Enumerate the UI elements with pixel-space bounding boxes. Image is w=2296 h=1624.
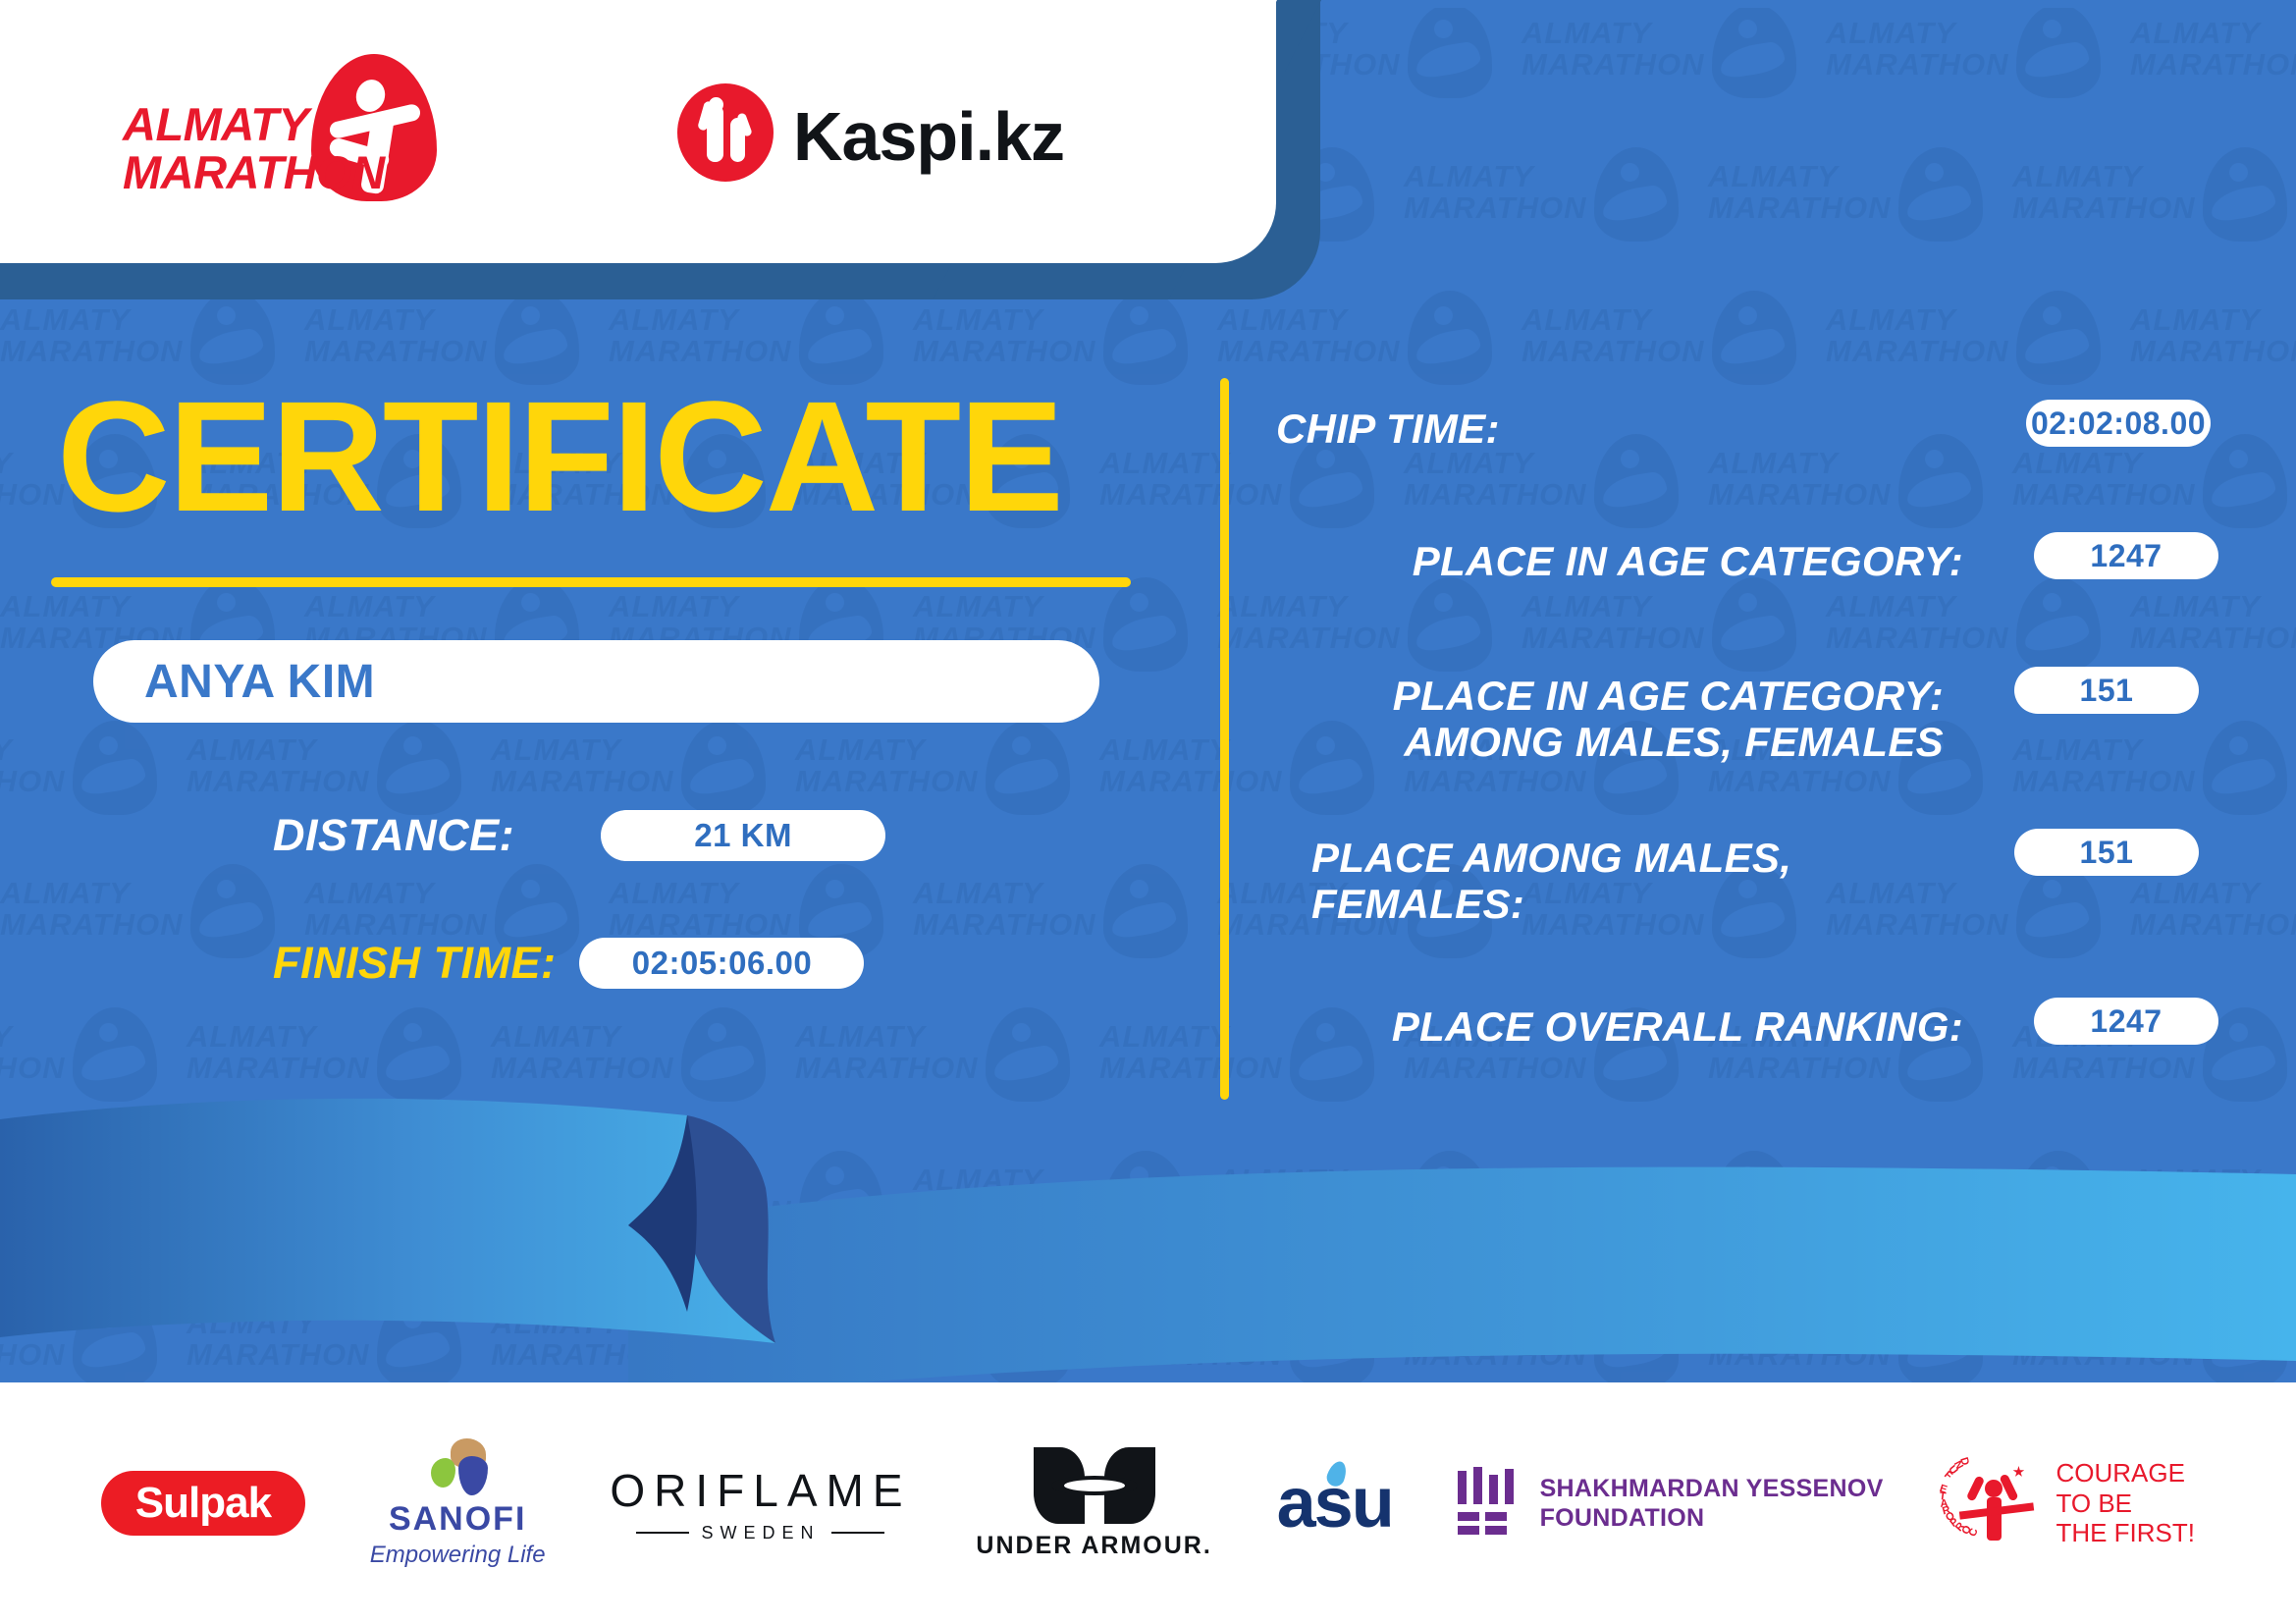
watermark-text: ALMATYMARATHON: [304, 878, 488, 940]
watermark-runner-icon: [1408, 291, 1492, 385]
yessenov-line2: FOUNDATION: [1540, 1503, 1884, 1533]
watermark-text: ALMATYMARATHON: [2130, 304, 2296, 366]
watermark-tile: ALMATYMARATHON: [2012, 430, 2296, 546]
stat-value: 1247: [2034, 532, 2218, 579]
watermark-runner-icon: [681, 721, 766, 815]
watermark-runner-icon: [1103, 864, 1188, 958]
watermark-text: ALMATYMARATHON: [0, 878, 184, 940]
sanofi-wordmark: SANOFI: [389, 1500, 526, 1539]
yessenov-line1: SHAKHMARDAN YESSENOV: [1540, 1474, 1884, 1503]
watermark-runner-icon: [1408, 577, 1492, 672]
distance-value: 21 KM: [601, 810, 885, 861]
watermark-tile: ALMATYMARATHON: [0, 717, 177, 833]
watermark-runner-icon: [377, 721, 461, 815]
watermark-text: ALMATYMARATHON: [609, 304, 792, 366]
oriflame-wordmark: ORIFLAME: [610, 1464, 911, 1517]
kaspi-people-icon: [677, 83, 774, 182]
almaty-marathon-wordmark: ALMATY MARATHON: [123, 101, 368, 197]
participant-name-field: ANYA KIM: [93, 640, 1099, 723]
watermark-text: ALMATYMARATHON: [0, 734, 66, 796]
oriflame-sub: SWEDEN: [636, 1523, 884, 1543]
sponsor-bar: Sulpak SANOFI Empowering Life ORIFLAME S…: [0, 1382, 2296, 1624]
header-logos: ALMATY MARATHON Kaspi.kz: [0, 0, 1198, 263]
watermark-text: ALMATYMARATHON: [2130, 591, 2296, 653]
watermark-text: ALMATYMARATHON: [1826, 591, 2009, 653]
kaspi-wordmark: Kaspi.kz: [793, 97, 1064, 176]
watermark-text: ALMATYMARATHON: [1217, 591, 1401, 653]
watermark-text: ALMATYMARATHON: [491, 734, 674, 796]
watermark-text: ALMATYMARATHON: [2012, 448, 2196, 510]
watermark-tile: ALMATYMARATHON: [913, 860, 1207, 976]
watermark-tile: ALMATYMARATHON: [0, 860, 294, 976]
stat-label: CHIP TIME:: [1276, 406, 1953, 452]
distance-label: DISTANCE:: [273, 810, 514, 861]
watermark-text: ALMATYMARATHON: [1099, 1021, 1283, 1083]
watermark-tile: ALMATYMARATHON: [2130, 860, 2296, 976]
watermark-runner-icon: [2016, 577, 2101, 672]
stat-label: PLACE OVERALL RANKING:: [1276, 1003, 1963, 1050]
oriflame-country: SWEDEN: [701, 1523, 820, 1543]
marathon-logo-line1: ALMATY: [123, 101, 368, 149]
courage-runner-icon: CORPORATE FUND: [1948, 1456, 2042, 1550]
divider-line: [831, 1532, 884, 1534]
watermark-text: ALMATYMARATHON: [187, 1021, 370, 1083]
stat-value: 1247: [2034, 998, 2218, 1045]
yessenov-bars-icon: [1458, 1467, 1519, 1540]
courage-line3: THE FIRST!: [2056, 1518, 2195, 1548]
watermark-runner-icon: [73, 721, 157, 815]
watermark-text: ALMATYMARATHON: [1522, 591, 1705, 653]
courage-line1: COURAGE: [2056, 1458, 2195, 1489]
finish-time-value: 02:05:06.00: [579, 938, 864, 989]
watermark-text: ALMATYMARATHON: [0, 448, 66, 510]
watermark-text: ALMATYMARATHON: [1708, 448, 1892, 510]
watermark-runner-icon: [2016, 864, 2101, 958]
stat-label: PLACE AMONG MALES, FEMALES:: [1311, 835, 1900, 927]
watermark-text: ALMATYMARATHON: [0, 1021, 66, 1083]
watermark-text: ALMATYMARATHON: [913, 304, 1096, 366]
participant-name-value: ANYA KIM: [144, 655, 375, 709]
watermark-text: ALMATYMARATHON: [187, 734, 370, 796]
ribbon-shape: [0, 1080, 2296, 1404]
watermark-runner-icon: [2203, 434, 2287, 528]
under-armour-wordmark: UNDER ARMOUR.: [976, 1532, 1211, 1560]
watermark-tile: ALMATYMARATHON: [2012, 717, 2296, 833]
watermark-text: ALMATYMARATHON: [1099, 448, 1283, 510]
watermark-text: ALMATYMARATHON: [304, 304, 488, 366]
divider-line: [636, 1532, 689, 1534]
sponsor-logo-sulpak: Sulpak: [101, 1471, 305, 1536]
sponsor-logo-courage-fund: CORPORATE FUND COURAGE TO BE THE FIRST!: [1948, 1456, 2195, 1550]
watermark-text: ALMATYMARATHON: [2130, 878, 2296, 940]
column-divider: [1220, 378, 1229, 1100]
watermark-text: ALMATYMARATHON: [1404, 448, 1587, 510]
stat-label: PLACE IN AGE CATEGORY: AMONG MALES, FEMA…: [1276, 673, 1944, 765]
under-armour-icon: [1034, 1447, 1155, 1524]
sponsor-logo-sanofi: SANOFI Empowering Life: [370, 1438, 546, 1569]
watermark-text: ALMATYMARATHON: [0, 304, 184, 366]
sponsor-logo-under-armour: UNDER ARMOUR.: [976, 1447, 1211, 1560]
watermark-runner-icon: [986, 721, 1070, 815]
watermark-runner-icon: [2203, 721, 2287, 815]
yessenov-wordmark: SHAKHMARDAN YESSENOV FOUNDATION: [1540, 1474, 1884, 1533]
watermark-text: ALMATYMARATHON: [1522, 304, 1705, 366]
sanofi-mark-icon: [425, 1438, 490, 1495]
header: ALMATY MARATHON Kaspi.kz: [0, 0, 2296, 304]
title-divider: [51, 577, 1131, 587]
page-title: CERTIFICATE: [57, 378, 1062, 535]
watermark-runner-icon: [1712, 291, 1796, 385]
watermark-text: ALMATYMARATHON: [1826, 304, 2009, 366]
watermark-runner-icon: [1103, 577, 1188, 672]
watermark-runner-icon: [1712, 577, 1796, 672]
watermark-text: ALMATYMARATHON: [913, 878, 1096, 940]
sponsor-logo-oriflame: ORIFLAME SWEDEN: [610, 1464, 911, 1543]
stat-value: 151: [2014, 667, 2199, 714]
sponsor-logo-yessenov-foundation: SHAKHMARDAN YESSENOV FOUNDATION: [1458, 1467, 1884, 1540]
watermark-text: ALMATYMARATHON: [2012, 734, 2196, 796]
marathon-logo-line2: MARATHON: [123, 149, 368, 197]
stat-label: PLACE IN AGE CATEGORY:: [1276, 538, 1963, 584]
distance-row: DISTANCE: 21 KM: [273, 810, 885, 861]
almaty-marathon-logo: ALMATY MARATHON: [123, 54, 447, 206]
finish-time-row: FINISH TIME: 02:05:06.00: [273, 938, 864, 989]
watermark-runner-icon: [1103, 291, 1188, 385]
watermark-runner-icon: [2016, 291, 2101, 385]
watermark-runner-icon: [190, 864, 275, 958]
watermark-text: ALMATYMARATHON: [795, 1021, 979, 1083]
certificate-canvas: ALMATYMARATHONALMATYMARATHONALMATYMARATH…: [0, 0, 2296, 1624]
watermark-text: ALMATYMARATHON: [1099, 734, 1283, 796]
stat-value: 02:02:08.00: [2026, 400, 2211, 447]
watermark-text: ALMATYMARATHON: [609, 878, 792, 940]
sponsor-logo-asu: asu: [1277, 1463, 1393, 1543]
sanofi-tagline: Empowering Life: [370, 1542, 546, 1569]
ribbon-banner: APRIL 21 st RUN FOR SENSATIONS: [0, 1080, 2296, 1394]
watermark-text: ALMATYMARATHON: [491, 1021, 674, 1083]
courage-line2: TO BE: [2056, 1489, 2195, 1519]
watermark-text: ALMATYMARATHON: [795, 734, 979, 796]
stat-value: 151: [2014, 829, 2199, 876]
courage-wordmark: COURAGE TO BE THE FIRST!: [2056, 1458, 2195, 1548]
finish-time-label: FINISH TIME:: [273, 938, 556, 989]
watermark-text: ALMATYMARATHON: [1217, 304, 1401, 366]
